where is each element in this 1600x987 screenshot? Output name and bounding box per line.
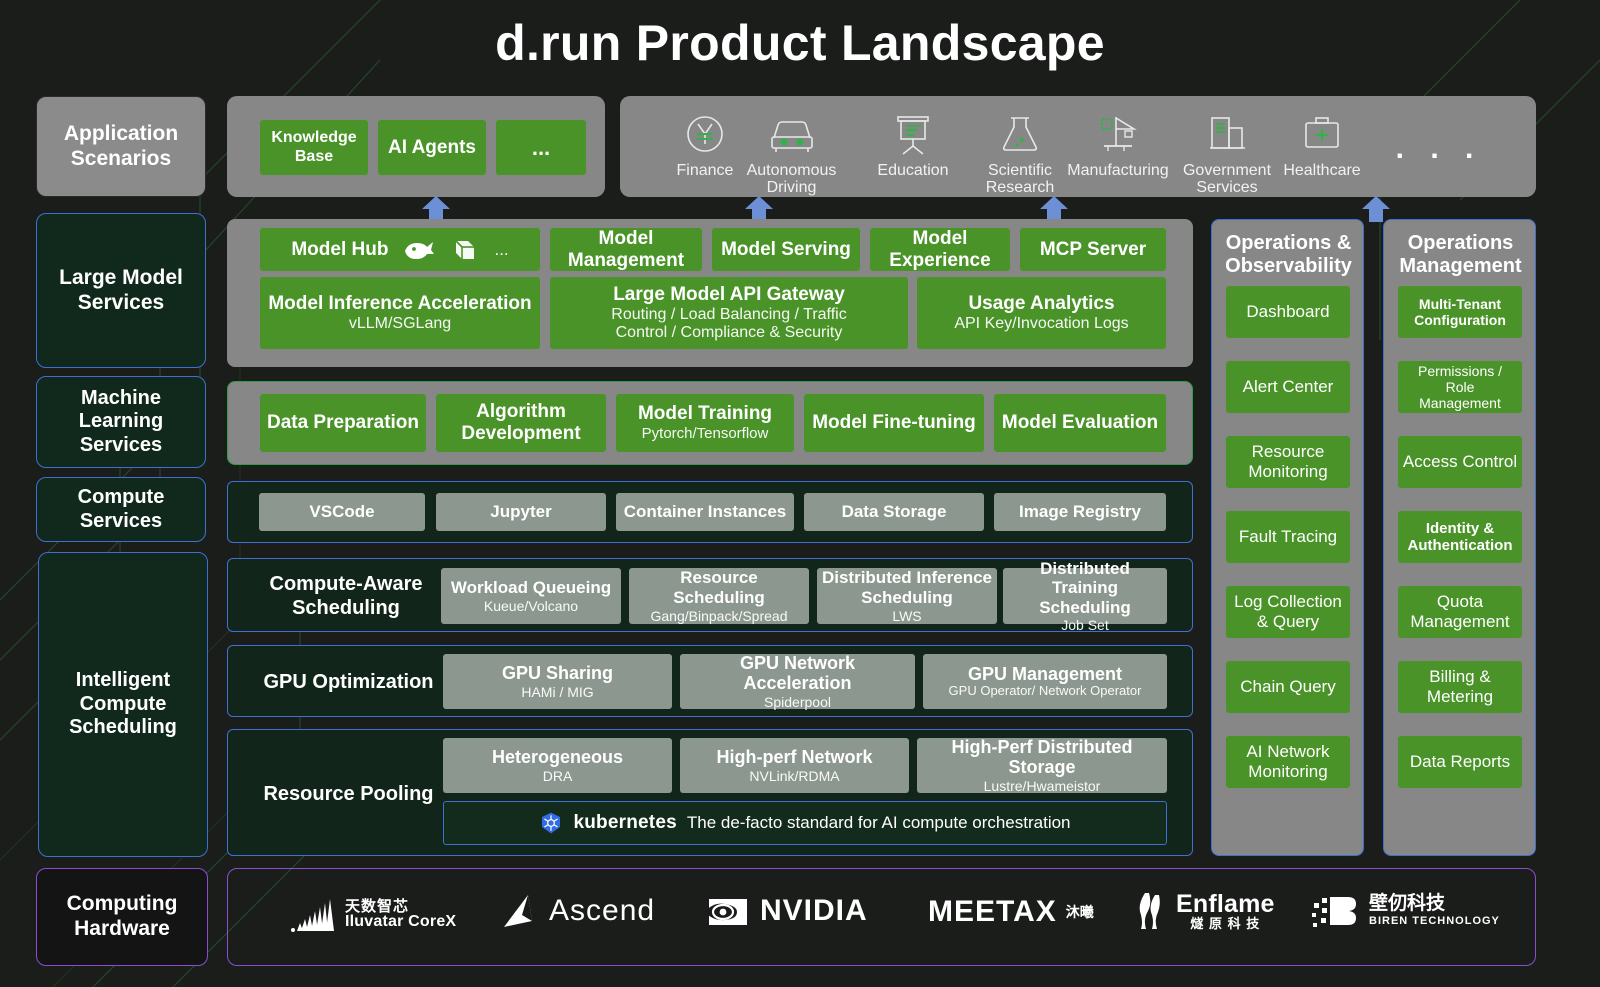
chip-data-reports[interactable]: Data Reports — [1398, 736, 1522, 788]
vendor-ascend[interactable]: Ascend — [498, 891, 655, 931]
chip-sublabel: Kueue/Volcano — [484, 598, 578, 614]
chip-knowledge-base[interactable]: Knowledge Base — [260, 120, 368, 175]
chip-label: AI Agents — [388, 137, 476, 159]
chip-label: Distributed Training Scheduling — [1007, 559, 1163, 618]
chip-label: Model Experience — [889, 228, 990, 272]
kubernetes-icon — [539, 811, 563, 835]
vendor-name-en: BIREN TECHNOLOGY — [1369, 916, 1500, 928]
sidebar-item-compute-services[interactable]: Compute Services — [36, 477, 206, 542]
chip-label: GPU Management — [968, 664, 1122, 685]
machine-learning-services-panel: Data Preparation Algorithm Development M… — [227, 381, 1193, 465]
autonomous-driving-icon — [764, 110, 820, 160]
arrow-up-operations-management — [1361, 196, 1391, 222]
chip-sublabel: vLLM/SGLang — [349, 315, 451, 333]
chip-log-collection-query[interactable]: Log Collection & Query — [1226, 586, 1350, 638]
vendor-name-en: MEETAX — [928, 895, 1057, 929]
chip-permissions-role-management[interactable]: Permissions / Role Management — [1398, 361, 1522, 413]
chip-model-training[interactable]: Model Training Pytorch/Tensorflow — [616, 394, 794, 452]
sidebar-item-machine-learning-services[interactable]: Machine Learning Services — [36, 376, 206, 468]
chip-label: Permissions / Role Management — [1402, 363, 1518, 411]
gpu-optimization-panel: GPU Optimization GPU Sharing HAMi / MIG … — [227, 645, 1193, 717]
sidebar-item-application-scenarios[interactable]: Application Scenarios — [36, 96, 206, 197]
chip-label: Jupyter — [490, 502, 551, 522]
chip-more[interactable]: ... — [496, 120, 586, 175]
scenario-education[interactable]: Education — [852, 110, 974, 180]
sidebar-item-intelligent-compute-scheduling[interactable]: Intelligent Compute Scheduling — [38, 552, 208, 857]
chip-high-perf-network[interactable]: High-perf Network NVLink/RDMA — [680, 738, 909, 793]
chip-workload-queueing[interactable]: Workload Queueing Kueue/Volcano — [441, 568, 621, 624]
chip-quota-management[interactable]: Quota Management — [1398, 586, 1522, 638]
chip-access-control[interactable]: Access Control — [1398, 436, 1522, 488]
chip-alert-center[interactable]: Alert Center — [1226, 361, 1350, 413]
chip-label: MCP Server — [1040, 239, 1146, 261]
chip-model-inference-acceleration[interactable]: Model Inference Acceleration vLLM/SGLang — [260, 277, 540, 349]
nvidia-logo — [703, 893, 751, 929]
chip-algorithm-development[interactable]: Algorithm Development — [436, 394, 606, 452]
industry-more-dots[interactable]: . . . — [1374, 132, 1504, 166]
chip-gpu-network-acceleration[interactable]: GPU Network Acceleration Spiderpool — [680, 654, 915, 709]
vendor-name-cn: 壁仞科技 — [1369, 894, 1445, 914]
chip-label: High-perf Network — [716, 747, 872, 768]
vendor-name-en: NVIDIA — [760, 894, 868, 928]
operations-management-heading: Operations Management — [1384, 232, 1537, 278]
chip-ai-network-monitoring[interactable]: AI Network Monitoring — [1226, 736, 1350, 788]
sidebar-item-label: Machine Learning Services — [79, 387, 163, 458]
vendor-name-cn: 天数智芯 — [345, 899, 456, 915]
chip-label: High-Perf Distributed Storage — [921, 737, 1163, 778]
scenario-label: Education — [877, 163, 948, 180]
chip-sublabel: Gang/Binpack/Spread — [651, 608, 788, 624]
finance-icon — [680, 110, 730, 160]
chip-label: Multi-Tenant Configuration — [1414, 296, 1506, 328]
chip-label: Model Inference Acceleration — [268, 293, 531, 315]
operations-observability-panel: Operations & Observability Dashboard Ale… — [1211, 219, 1364, 856]
chip-sublabel: Job Set — [1061, 617, 1108, 633]
chip-label: Fault Tracing — [1239, 527, 1337, 547]
ascend-logo — [498, 891, 540, 931]
chip-model-experience[interactable]: Model Experience — [870, 228, 1010, 271]
sidebar-item-large-model-services[interactable]: Large Model Services — [36, 213, 206, 368]
vendor-enflame[interactable]: Enflame 燧 原 科 技 — [1133, 889, 1275, 933]
chip-label: Knowledge Base — [271, 129, 356, 166]
chip-label: Dashboard — [1246, 302, 1329, 322]
iluvatar-corex-logo — [290, 895, 336, 935]
chip-label: VSCode — [309, 502, 374, 522]
page-title: d.run Product Landscape — [0, 14, 1600, 72]
vendor-metax[interactable]: MEETAX 沐曦 — [928, 895, 1094, 929]
sidebar-item-label: Intelligent Compute Scheduling — [69, 669, 177, 740]
chip-label: ... — [532, 135, 550, 160]
group-label-gpu-optimization: GPU Optimization — [246, 658, 451, 706]
scenario-label: Autonomous Driving — [747, 163, 837, 197]
enflame-logo — [1133, 889, 1167, 933]
chip-label: Data Storage — [842, 502, 947, 522]
chip-label: Large Model API Gateway — [613, 284, 845, 306]
chip-label: AI Network Monitoring — [1246, 742, 1329, 781]
chip-container-instances[interactable]: Container Instances — [616, 493, 794, 531]
chip-mcp-server[interactable]: MCP Server — [1020, 228, 1166, 271]
vendor-name-en: Iluvatar CoreX — [345, 914, 456, 931]
sidebar-item-label: Application Scenarios — [64, 122, 178, 172]
chip-label: GPU Network Acceleration — [684, 653, 911, 694]
group-label-resource-pooling: Resource Pooling — [246, 770, 451, 818]
chip-sublabel: HAMi / MIG — [521, 684, 593, 700]
chip-label: Algorithm Development — [461, 401, 580, 445]
chip-label: Model Evaluation — [1002, 412, 1158, 434]
chip-data-preparation[interactable]: Data Preparation — [260, 394, 426, 452]
chip-label: Identity & Authentication — [1408, 520, 1513, 555]
vendor-name-en: Ascend — [549, 894, 655, 928]
chip-label: Model Training — [638, 403, 772, 425]
scientific-research-icon — [995, 110, 1045, 160]
scenario-healthcare[interactable]: Healthcare — [1265, 110, 1379, 180]
operations-management-panel: Operations Management Multi-Tenant Confi… — [1383, 219, 1536, 856]
chip-label: Usage Analytics — [968, 293, 1114, 315]
operations-observability-heading: Operations & Observability — [1212, 232, 1365, 278]
chip-identity-authentication[interactable]: Identity & Authentication — [1398, 511, 1522, 563]
kubernetes-name: kubernetes — [573, 812, 676, 834]
vendor-name-cn: 沐曦 — [1066, 905, 1094, 919]
scenario-label: Government Services — [1183, 163, 1271, 197]
product-landscape-diagram: d.run Product Landscape Application Scen… — [0, 0, 1600, 987]
chip-sublabel: Spiderpool — [764, 694, 831, 710]
chip-sublabel: API Key/Invocation Logs — [954, 315, 1128, 333]
chip-trailing-dots: ... — [494, 240, 508, 260]
resource-pooling-panel: Resource Pooling Heterogeneous DRA High-… — [227, 729, 1193, 856]
chip-label: Billing & Metering — [1427, 667, 1493, 706]
computing-hardware-panel: 天数智芯 Iluvatar CoreX Ascend NVIDIA MEE — [227, 868, 1536, 966]
chip-label: Data Preparation — [267, 412, 419, 434]
chip-sublabel: Lustre/Hwameistor — [984, 778, 1101, 794]
healthcare-icon — [1296, 110, 1348, 160]
chip-label: Quota Management — [1410, 592, 1509, 631]
group-label-text: Compute-Aware Scheduling — [270, 572, 423, 620]
chip-gpu-management[interactable]: GPU Management GPU Operator/ Network Ope… — [923, 654, 1167, 709]
chip-model-serving[interactable]: Model Serving — [712, 228, 860, 271]
deepseek-whale-icon — [402, 237, 436, 263]
chip-label: Access Control — [1403, 452, 1517, 472]
chip-label: Distributed Inference Scheduling — [822, 568, 992, 607]
vendor-nvidia[interactable]: NVIDIA — [703, 893, 868, 929]
chip-data-storage[interactable]: Data Storage — [804, 493, 984, 531]
chip-resource-scheduling[interactable]: Resource Scheduling Gang/Binpack/Spread — [629, 568, 809, 624]
chip-label: Workload Queueing — [451, 578, 611, 598]
sidebar-item-computing-hardware[interactable]: Computing Hardware — [36, 868, 208, 966]
group-label-text: Resource Pooling — [263, 782, 433, 806]
chip-jupyter[interactable]: Jupyter — [436, 493, 606, 531]
chip-model-fine-tuning[interactable]: Model Fine-tuning — [804, 394, 984, 452]
chip-sublabel: LWS — [892, 608, 921, 624]
education-icon — [887, 110, 939, 160]
chip-label: Data Reports — [1410, 752, 1510, 772]
chip-heterogeneous[interactable]: Heterogeneous DRA — [443, 738, 672, 793]
chip-ai-agents[interactable]: AI Agents — [378, 120, 486, 175]
scenario-label: Manufacturing — [1067, 163, 1168, 180]
chip-sublabel: Routing / Load Balancing / Traffic Contr… — [611, 306, 846, 343]
scenario-label: Healthcare — [1283, 163, 1360, 180]
chip-chain-query[interactable]: Chain Query — [1226, 661, 1350, 713]
chip-label: Log Collection & Query — [1234, 592, 1342, 631]
chip-sublabel: NVLink/RDMA — [749, 768, 839, 784]
sidebar-item-label: Computing Hardware — [67, 892, 178, 942]
scenario-label: Scientific Research — [986, 163, 1054, 197]
chip-label: GPU Sharing — [502, 663, 613, 684]
chip-label: Resource Monitoring — [1248, 442, 1327, 481]
vendor-name-en: Enflame — [1176, 891, 1275, 917]
chip-gpu-sharing[interactable]: GPU Sharing HAMi / MIG — [443, 654, 672, 709]
application-scenarios-left-panel: Knowledge Base AI Agents ... — [227, 96, 605, 197]
chip-vscode[interactable]: VSCode — [259, 493, 425, 531]
group-label-compute-aware-scheduling: Compute-Aware Scheduling — [246, 571, 446, 621]
scenario-autonomous-driving[interactable]: Autonomous Driving — [724, 110, 859, 197]
chip-label: Container Instances — [624, 502, 787, 522]
chip-sublabel: GPU Operator/ Network Operator — [949, 684, 1142, 699]
kubernetes-description: The de-facto standard for AI compute orc… — [687, 813, 1071, 833]
government-services-icon — [1202, 110, 1252, 160]
kubernetes-bar[interactable]: kubernetes The de-facto standard for AI … — [443, 801, 1167, 845]
vendor-name-cn: 燧 原 科 技 — [1190, 917, 1260, 931]
chip-multi-tenant-configuration[interactable]: Multi-Tenant Configuration — [1398, 286, 1522, 338]
chip-model-management[interactable]: Model Management — [550, 228, 702, 271]
vendor-iluvatar-corex[interactable]: 天数智芯 Iluvatar CoreX — [290, 895, 456, 935]
chip-distributed-training-scheduling[interactable]: Distributed Training Scheduling Job Set — [1003, 568, 1167, 624]
chip-fault-tracing[interactable]: Fault Tracing — [1226, 511, 1350, 563]
chip-dashboard[interactable]: Dashboard — [1226, 286, 1350, 338]
manufacturing-icon — [1092, 110, 1144, 160]
large-model-services-panel: Model Hub ... Model Management Model Ser… — [227, 219, 1193, 367]
chip-label: Model Management — [568, 228, 684, 272]
compute-services-panel: VSCode Jupyter Container Instances Data … — [227, 481, 1193, 543]
industry-scenarios-panel: Finance Autonomous Driving — [620, 96, 1536, 197]
chip-large-model-api-gateway[interactable]: Large Model API Gateway Routing / Load B… — [550, 277, 908, 349]
chip-sublabel: Pytorch/Tensorflow — [642, 425, 769, 442]
sidebar-item-label: Large Model Services — [59, 266, 183, 316]
sidebar-item-label: Compute Services — [78, 486, 165, 533]
chip-model-hub[interactable]: Model Hub ... — [260, 228, 540, 271]
chip-label: Image Registry — [1019, 502, 1141, 522]
chip-image-registry[interactable]: Image Registry — [994, 493, 1166, 531]
chip-usage-analytics[interactable]: Usage Analytics API Key/Invocation Logs — [917, 277, 1166, 349]
chip-label: Model Serving — [721, 239, 851, 261]
compute-aware-scheduling-panel: Compute-Aware Scheduling Workload Queuei… — [227, 558, 1193, 632]
chip-label: Model Fine-tuning — [812, 412, 976, 434]
chip-label: Alert Center — [1243, 377, 1334, 397]
chip-distributed-inference-scheduling[interactable]: Distributed Inference Scheduling LWS — [817, 568, 997, 624]
biren-logo — [1308, 891, 1360, 931]
chip-billing-metering[interactable]: Billing & Metering — [1398, 661, 1522, 713]
chip-label: Model Hub — [291, 239, 388, 261]
chip-label: Chain Query — [1240, 677, 1335, 697]
chip-high-perf-distributed-storage[interactable]: High-Perf Distributed Storage Lustre/Hwa… — [917, 738, 1167, 793]
chip-resource-monitoring[interactable]: Resource Monitoring — [1226, 436, 1350, 488]
vendor-biren[interactable]: 壁仞科技 BIREN TECHNOLOGY — [1308, 891, 1500, 931]
huggingface-icon — [450, 237, 480, 263]
chip-model-evaluation[interactable]: Model Evaluation — [994, 394, 1166, 452]
chip-label: Heterogeneous — [492, 747, 623, 768]
group-label-text: GPU Optimization — [264, 670, 434, 694]
chip-sublabel: DRA — [543, 768, 573, 784]
chip-label: Resource Scheduling — [633, 568, 805, 607]
